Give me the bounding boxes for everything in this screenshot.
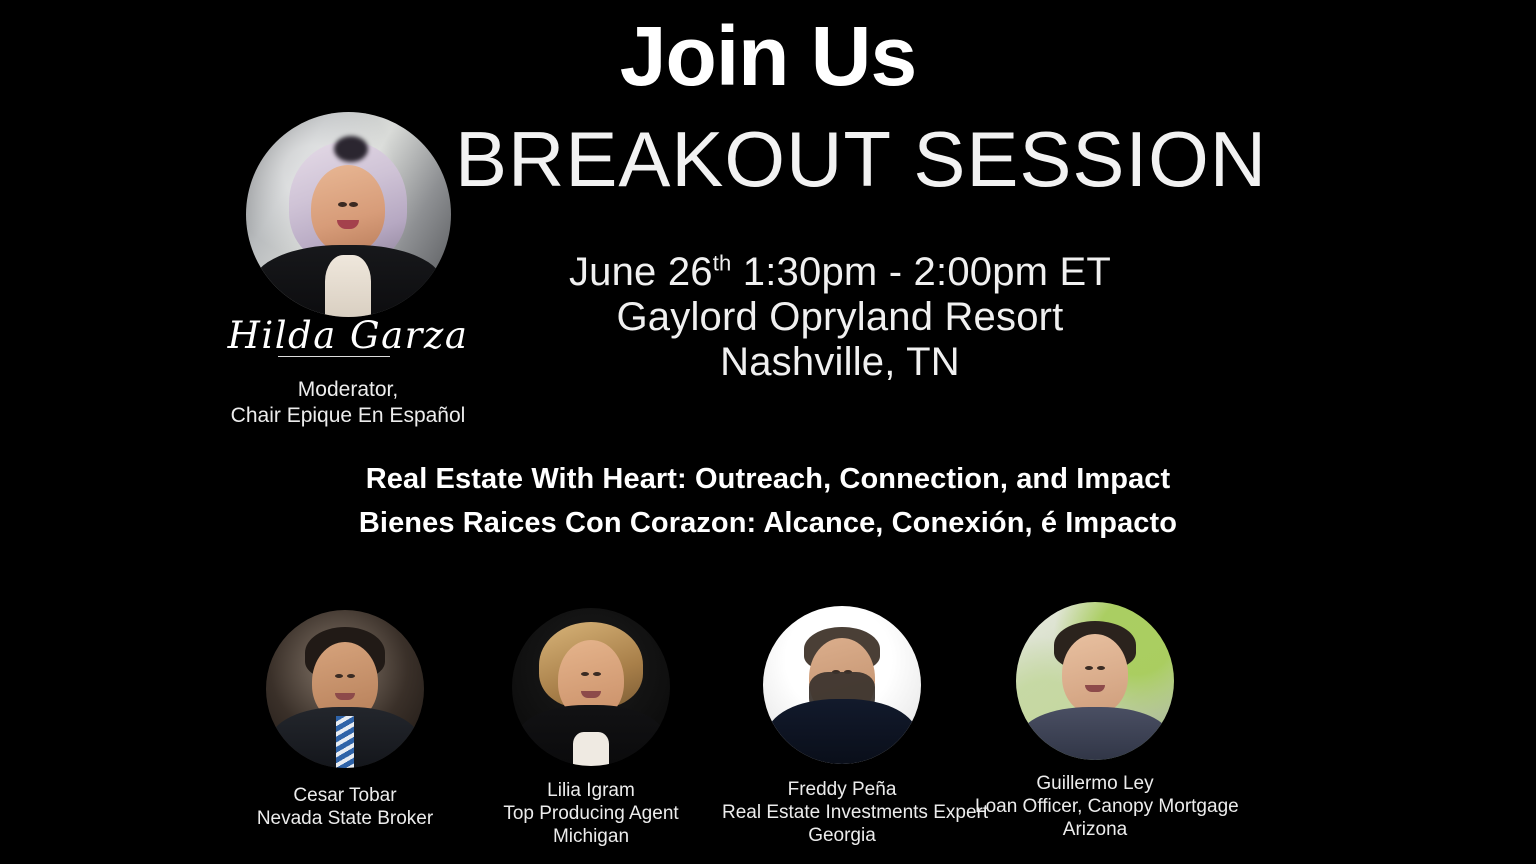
speaker-card: Lilia Igram Top Producing Agent Michigan (471, 608, 711, 849)
speaker-avatar (1016, 602, 1174, 760)
speaker-name: Cesar Tobar (225, 784, 465, 807)
speaker-caption: Lilia Igram Top Producing Agent Michigan (471, 779, 711, 849)
avatar-eye-right (593, 672, 601, 676)
speaker-location: Georgia (722, 824, 962, 847)
speaker-role: Nevada State Broker (225, 807, 465, 830)
speaker-name: Freddy Peña (722, 778, 962, 801)
avatar-eye-left (581, 672, 589, 676)
speaker-avatar (763, 606, 921, 764)
speaker-caption: Guillermo Ley Loan Officer, Canopy Mortg… (975, 772, 1215, 842)
event-city-state: Nashville, TN (420, 340, 1260, 385)
avatar-eye-left (335, 674, 343, 678)
event-flyer: Join Us BREAKOUT SESSION June 26th 1:30p… (0, 0, 1536, 864)
avatar-eye-left (1085, 666, 1093, 670)
speaker-caption: Cesar Tobar Nevada State Broker (225, 784, 465, 830)
speaker-location: Michigan (471, 825, 711, 848)
avatar-eye-right (1097, 666, 1105, 670)
avatar-necktie (336, 716, 354, 768)
avatar-shirt (573, 732, 609, 766)
moderator-signature: Hilda Garza (223, 317, 473, 357)
moderator-role: Moderator, Chair Epique En Español (223, 377, 473, 428)
avatar-eye-left (338, 202, 347, 207)
speaker-caption: Freddy Peña Real Estate Investments Expe… (722, 778, 962, 848)
moderator-block: Hilda Garza Moderator, Chair Epique En E… (223, 112, 473, 428)
avatar-body (1020, 707, 1170, 760)
speaker-avatar (512, 608, 670, 766)
event-details: June 26th 1:30pm - 2:00pm ET Gaylord Opr… (420, 250, 1260, 384)
session-title-spanish: Bienes Raices Con Corazon: Alcance, Cone… (168, 502, 1368, 546)
session-title: Real Estate With Heart: Outreach, Connec… (168, 458, 1368, 545)
moderator-role-line-2: Chair Epique En Español (231, 404, 466, 427)
avatar-mouth (1085, 685, 1105, 692)
avatar-mouth (335, 693, 355, 700)
speaker-role: Real Estate Investments Expert (722, 801, 962, 824)
avatar-mouth (581, 691, 601, 698)
speaker-card: Freddy Peña Real Estate Investments Expe… (722, 606, 962, 848)
page-title: Join Us (0, 14, 1536, 98)
avatar-shirt (325, 255, 371, 317)
avatar-face (311, 165, 385, 253)
avatar-eye-right (347, 674, 355, 678)
avatar-eye-right (349, 202, 358, 207)
moderator-avatar (246, 112, 451, 317)
date-ordinal-suffix: th (713, 251, 732, 276)
speaker-card: Cesar Tobar Nevada State Broker (225, 610, 465, 830)
avatar-face (1062, 634, 1128, 714)
speaker-name: Lilia Igram (471, 779, 711, 802)
moderator-role-line-1: Moderator, (298, 378, 398, 401)
event-date: June 26 (569, 250, 713, 294)
event-time: 1:30pm - 2:00pm ET (743, 250, 1111, 294)
session-title-english: Real Estate With Heart: Outreach, Connec… (168, 458, 1368, 502)
avatar-body (767, 699, 917, 764)
speaker-name: Guillermo Ley (975, 772, 1215, 795)
speaker-location: Arizona (975, 818, 1215, 841)
speaker-role: Loan Officer, Canopy Mortgage (975, 795, 1215, 818)
avatar-mouth (337, 220, 359, 229)
speaker-panel: Cesar Tobar Nevada State Broker Lilia Ig… (0, 598, 1536, 864)
speaker-avatar (266, 610, 424, 768)
speaker-card: Guillermo Ley Loan Officer, Canopy Mortg… (975, 602, 1215, 842)
event-venue: Gaylord Opryland Resort (420, 295, 1260, 340)
speaker-role: Top Producing Agent (471, 802, 711, 825)
event-type-heading: BREAKOUT SESSION (455, 120, 1455, 198)
event-datetime: June 26th 1:30pm - 2:00pm ET (420, 250, 1260, 295)
